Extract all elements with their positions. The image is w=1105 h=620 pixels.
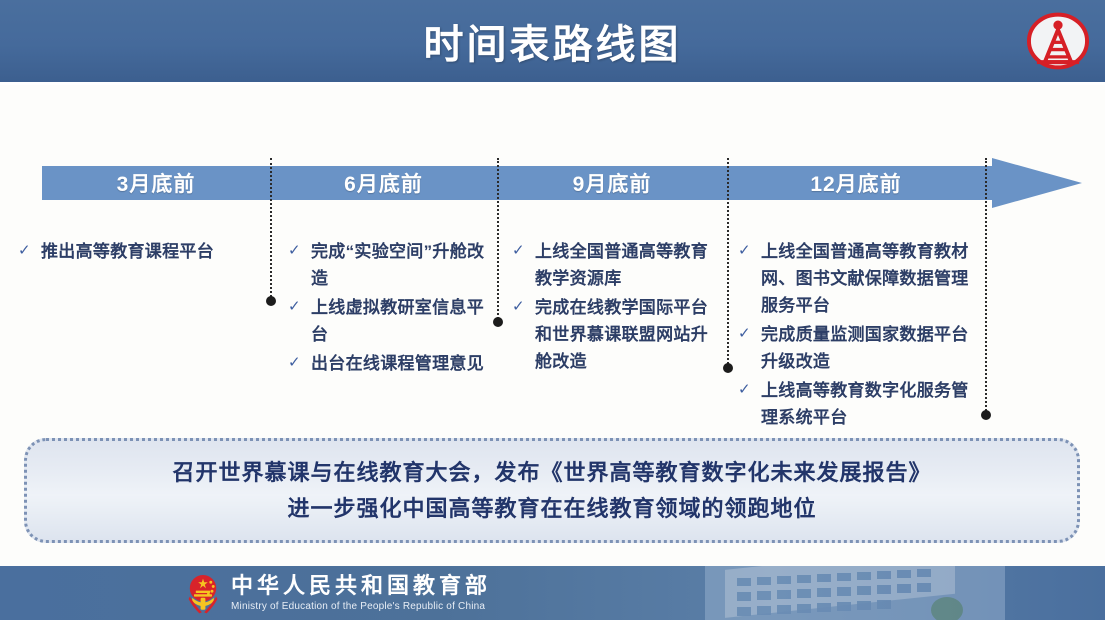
banner-line-1: 召开世界慕课与在线教育大会，发布《世界高等教育数字化未来发展报告》 (172, 455, 931, 491)
connector-dot-2 (493, 317, 503, 327)
timeline-column-3: ✓ 上线全国普通高等教育教学资源库 ✓ 完成在线教学国际平台和世界慕课联盟网站升… (512, 238, 717, 377)
list-item: ✓ 上线高等教育数字化服务管理系统平台 (738, 377, 981, 431)
timeline-column-2: ✓ 完成“实验空间”升舱改造 ✓ 上线虚拟教研室信息平台 ✓ 出台在线课程管理意… (288, 238, 488, 379)
timeline-column-4: ✓ 上线全国普通高等教育教材网、图书文献保障数据管理服务平台 ✓ 完成质量监测国… (738, 238, 981, 433)
phase-label-2: 6月底前 (270, 158, 497, 208)
footer-text-block: 中华人民共和国教育部 Ministry of Education of the … (231, 573, 491, 614)
check-icon: ✓ (512, 241, 530, 261)
list-item: ✓ 上线全国普通高等教育教材网、图书文献保障数据管理服务平台 (738, 238, 981, 319)
check-icon: ✓ (738, 380, 756, 400)
summary-banner: 召开世界慕课与在线教育大会，发布《世界高等教育数字化未来发展报告》 进一步强化中… (24, 438, 1080, 543)
phase-label-3: 9月底前 (497, 158, 727, 208)
phase-label-4: 12月底前 (727, 158, 985, 208)
government-building-photo-icon (705, 566, 1005, 620)
list-item-label: 完成在线教学国际平台和世界慕课联盟网站升舱改造 (535, 294, 717, 375)
footer-org-name-en: Ministry of Education of the People's Re… (231, 600, 491, 614)
footer-org-name-cn: 中华人民共和国教育部 (231, 573, 491, 599)
timeline-arrow-bar: 3月底前 6月底前 9月底前 12月底前 (0, 118, 1105, 223)
banner-line-2: 进一步强化中国高等教育在在线教育领域的领跑地位 (287, 491, 816, 527)
cctv-tower-emblem-icon (1025, 8, 1091, 74)
connector-dot-4 (981, 410, 991, 420)
phase-label-1: 3月底前 (42, 158, 270, 208)
footer-brand: 中华人民共和国教育部 Ministry of Education of the … (185, 570, 491, 616)
list-item-label: 上线全国普通高等教育教学资源库 (535, 238, 717, 292)
list-item-label: 出台在线课程管理意见 (311, 350, 484, 377)
title-bar: 时间表路线图 (0, 0, 1105, 85)
connector-dot-3 (723, 363, 733, 373)
connector-dot-1 (266, 296, 276, 306)
footer-bar: 中华人民共和国教育部 Ministry of Education of the … (0, 566, 1105, 620)
check-icon: ✓ (512, 297, 530, 317)
list-item: ✓ 上线全国普通高等教育教学资源库 (512, 238, 717, 292)
check-icon: ✓ (18, 241, 36, 261)
check-icon: ✓ (738, 241, 756, 261)
check-icon: ✓ (738, 324, 756, 344)
list-item: ✓ 出台在线课程管理意见 (288, 350, 488, 377)
list-item: ✓ 完成质量监测国家数据平台升级改造 (738, 321, 981, 375)
national-emblem-china-icon (185, 570, 221, 616)
connector-dash-4 (985, 158, 987, 415)
list-item-label: 上线虚拟教研室信息平台 (311, 294, 488, 348)
check-icon: ✓ (288, 353, 306, 373)
list-item-label: 推出高等教育课程平台 (41, 238, 214, 265)
list-item: ✓ 完成在线教学国际平台和世界慕课联盟网站升舱改造 (512, 294, 717, 375)
check-icon: ✓ (288, 241, 306, 261)
list-item-label: 完成“实验空间”升舱改造 (311, 238, 488, 292)
check-icon: ✓ (288, 297, 306, 317)
timeline-column-1: ✓ 推出高等教育课程平台 (18, 238, 266, 267)
list-item-label: 上线全国普通高等教育教材网、图书文献保障数据管理服务平台 (761, 238, 981, 319)
list-item-label: 上线高等教育数字化服务管理系统平台 (761, 377, 981, 431)
page-title: 时间表路线图 (0, 0, 1105, 82)
list-item: ✓ 上线虚拟教研室信息平台 (288, 294, 488, 348)
list-item-label: 完成质量监测国家数据平台升级改造 (761, 321, 981, 375)
list-item: ✓ 完成“实验空间”升舱改造 (288, 238, 488, 292)
list-item: ✓ 推出高等教育课程平台 (18, 238, 266, 265)
